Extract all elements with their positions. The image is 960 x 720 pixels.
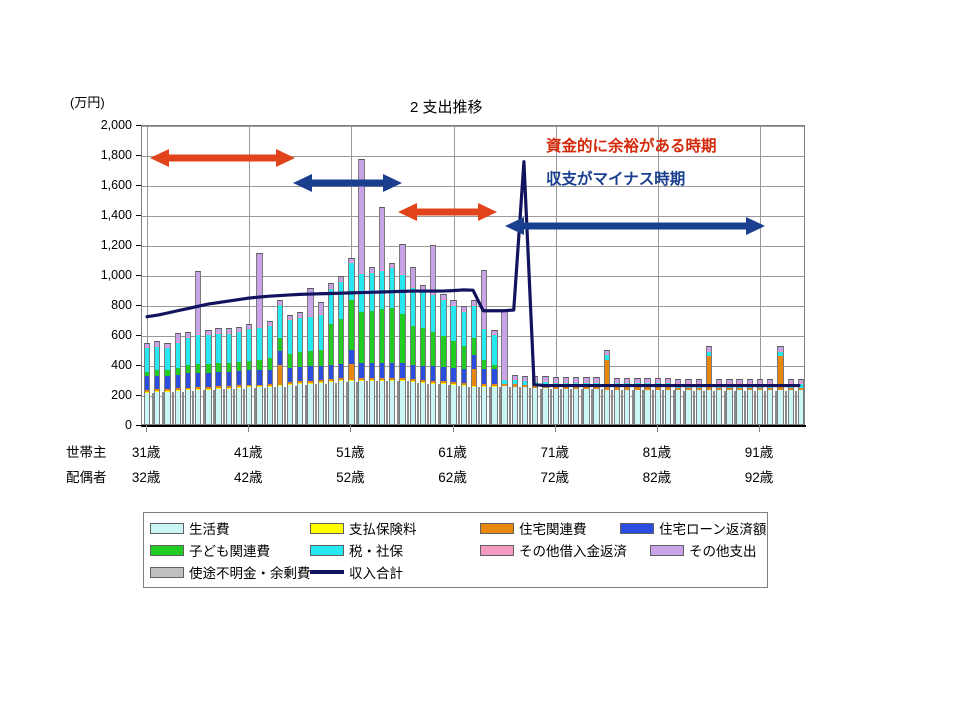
- arrow-red-period-1: [150, 149, 295, 167]
- legend-line-swatch: [310, 570, 344, 574]
- legend-item-label: 税・社保: [349, 540, 403, 560]
- x-axis-row2-values: 32歳42歳52歳62歳72歳82歳92歳: [141, 466, 806, 486]
- legend-item[interactable]: 支払保険料: [310, 517, 417, 539]
- arrow-red-period-2: [398, 203, 497, 221]
- legend-color-swatch: [480, 545, 514, 556]
- x-tick-mark: [248, 425, 249, 432]
- legend-item[interactable]: 住宅関連費: [480, 517, 587, 539]
- legend-item-label: その他支出: [689, 540, 757, 560]
- legend-color-swatch: [650, 545, 684, 556]
- legend-color-swatch: [310, 545, 344, 556]
- x-axis-row1-label: 世帯主: [66, 441, 107, 461]
- x-tick-mark: [350, 425, 351, 432]
- legend-color-swatch: [620, 523, 654, 534]
- legend-color-swatch: [480, 523, 514, 534]
- x-axis-row1-values: 31歳41歳51歳61歳71歳81歳91歳: [141, 441, 806, 461]
- legend-color-swatch: [150, 567, 184, 578]
- x-tick-label-householder: 51歳: [336, 441, 365, 461]
- legend-color-swatch: [310, 523, 344, 534]
- legend-item-label: 生活費: [189, 518, 230, 538]
- legend-item-label: その他借入金返済: [519, 540, 627, 560]
- x-tick-mark: [657, 425, 658, 432]
- annotation-arrow-layer: [0, 0, 960, 720]
- x-tick-mark: [146, 425, 147, 432]
- x-tick-label-householder: 71歳: [540, 441, 569, 461]
- x-tick-label-householder: 31歳: [132, 441, 161, 461]
- x-tick-label-spouse: 92歳: [745, 466, 774, 486]
- x-tick-label-spouse: 82歳: [643, 466, 672, 486]
- x-tick-label-spouse: 42歳: [234, 466, 263, 486]
- arrow-blue-period-2: [505, 217, 765, 235]
- legend-item-label: 住宅関連費: [519, 518, 587, 538]
- x-tick-mark: [555, 425, 556, 432]
- legend-color-swatch: [150, 523, 184, 534]
- x-axis-row2-label: 配偶者: [66, 466, 107, 486]
- x-tick-label-householder: 61歳: [438, 441, 467, 461]
- legend-item-label: 住宅ローン返済額: [659, 518, 766, 538]
- chart-page: (万円) 2 支出推移 02004006008001,0001,2001,400…: [0, 0, 960, 720]
- x-tick-label-householder: 91歳: [745, 441, 774, 461]
- legend-item[interactable]: 使途不明金・余剰費: [150, 561, 311, 583]
- x-axis-line: [141, 425, 806, 427]
- x-tick-label-householder: 41歳: [234, 441, 263, 461]
- arrow-blue-period-1: [293, 174, 402, 192]
- legend-color-swatch: [150, 545, 184, 556]
- x-tick-label-spouse: 52歳: [336, 466, 365, 486]
- legend-item[interactable]: 収入合計: [310, 561, 403, 583]
- legend: 生活費支払保険料住宅関連費住宅ローン返済額 子ども関連費税・社保その他借入金返済…: [143, 512, 768, 588]
- legend-item-label: 収入合計: [349, 562, 403, 582]
- legend-item[interactable]: その他支出: [650, 539, 757, 561]
- annotation-text-surplus-period: 資金的に余裕がある時期: [546, 134, 717, 156]
- legend-item[interactable]: 税・社保: [310, 539, 403, 561]
- legend-row: 使途不明金・余剰費収入合計: [150, 561, 761, 583]
- x-axis-ticks: [141, 425, 806, 433]
- legend-item[interactable]: 生活費: [150, 517, 230, 539]
- x-tick-label-spouse: 62歳: [438, 466, 467, 486]
- legend-item[interactable]: その他借入金返済: [480, 539, 627, 561]
- legend-item[interactable]: 住宅ローン返済額: [620, 517, 766, 539]
- x-tick-label-householder: 81歳: [643, 441, 672, 461]
- legend-row: 子ども関連費税・社保その他借入金返済その他支出: [150, 539, 761, 561]
- x-tick-label-spouse: 72歳: [540, 466, 569, 486]
- legend-row: 生活費支払保険料住宅関連費住宅ローン返済額: [150, 517, 761, 539]
- legend-item-label: 使途不明金・余剰費: [189, 562, 311, 582]
- x-tick-mark: [453, 425, 454, 432]
- annotation-text-deficit-period: 収支がマイナス時期: [546, 167, 685, 189]
- legend-item-label: 子ども関連費: [189, 540, 270, 560]
- legend-item[interactable]: 子ども関連費: [150, 539, 270, 561]
- legend-item-label: 支払保険料: [349, 518, 417, 538]
- x-tick-label-spouse: 32歳: [132, 466, 161, 486]
- x-tick-mark: [759, 425, 760, 432]
